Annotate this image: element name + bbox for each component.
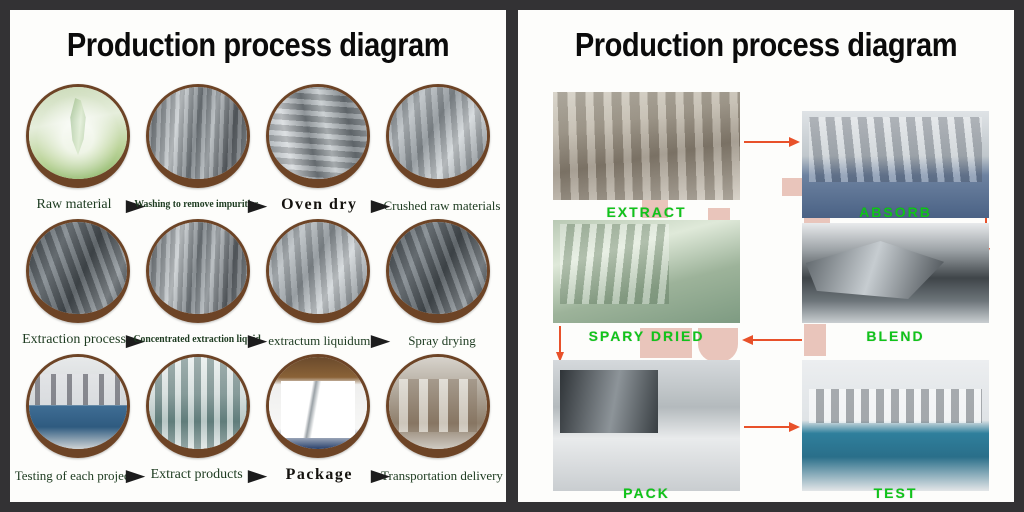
arrow-right-icon: ▶ (248, 467, 268, 484)
step-label: Transportation delivery (381, 469, 503, 482)
arrow-right-icon: ▶ (371, 332, 391, 349)
testing-photo (29, 357, 127, 449)
step-label: Spray drying (408, 334, 476, 347)
step-label: Package (286, 467, 353, 483)
extract-photo (553, 92, 740, 200)
oven-dry-photo (269, 87, 367, 179)
stage-photo-spary-dried[interactable] (553, 220, 740, 323)
step-image-circle (26, 84, 130, 188)
step-label: Testing of each project (15, 469, 134, 482)
concentrated-photo (149, 222, 247, 314)
step-caption-row-2: Extraction process ▶ Concentrated extrac… (10, 326, 506, 354)
stage-label-pack: PACK (553, 485, 740, 501)
arrow-line-blend-spary (750, 339, 802, 341)
stage-label-blend: BLEND (802, 328, 989, 344)
step-image-circle (146, 84, 250, 188)
arrow-right-icon: ▶ (371, 467, 391, 484)
step-cell[interactable] (144, 219, 252, 323)
step-cell[interactable] (264, 354, 372, 458)
stage-photo-test[interactable] (802, 360, 989, 491)
step-caption-row-1: Raw material ▶ Washing to remove impurit… (10, 191, 506, 219)
step-image-circle (146, 219, 250, 323)
step-label: Extraction process (22, 333, 126, 347)
left-panel: Production process diagram Raw material (10, 10, 506, 502)
step-caption-row-3: Testing of each project ▶ Extract produc… (10, 461, 506, 489)
step-cell[interactable] (24, 354, 132, 458)
step-row-3 (10, 354, 506, 458)
step-label: Extract products (151, 468, 243, 482)
right-panel-title: Production process diagram (548, 10, 984, 64)
step-label: Crushed raw materials (383, 199, 500, 212)
step-image-circle (146, 354, 250, 458)
step-image-circle (266, 84, 370, 188)
step-cell[interactable] (384, 354, 492, 458)
arrow-right-icon: ▶ (371, 197, 391, 214)
blend-photo (802, 223, 989, 323)
step-image-circle (26, 354, 130, 458)
step-label: Raw material (36, 198, 111, 212)
step-cell[interactable] (24, 219, 132, 323)
arrow-right-icon: ▶ (248, 197, 268, 214)
extractum-photo (269, 222, 367, 314)
stage-photo-grid: EXTRACT ABSORB SPARY DRIED BLEND (518, 78, 1014, 498)
package-photo (269, 357, 367, 449)
step-image-circle (26, 219, 130, 323)
test-photo (802, 360, 989, 491)
step-row-1 (10, 84, 506, 188)
arrow-line-pack-test (744, 426, 790, 428)
right-panel: Production process diagram EXTRACT ABSOR… (518, 10, 1014, 502)
circle-step-grid: Raw material ▶ Washing to remove impurit… (10, 84, 506, 489)
washing-photo (149, 87, 247, 179)
spary-dried-photo (553, 220, 740, 323)
arrow-head-right-icon (789, 137, 800, 147)
stage-photo-pack[interactable] (553, 360, 740, 491)
step-image-circle (266, 354, 370, 458)
step-row-2 (10, 219, 506, 323)
stage-photo-absorb[interactable] (802, 111, 989, 218)
screenshot-root: Production process diagram Raw material (0, 0, 1024, 512)
extraction-photo (29, 222, 127, 314)
stage-label-spary-dried: SPARY DRIED (553, 328, 740, 344)
raw-material-photo (29, 87, 127, 179)
step-image-circle (386, 84, 490, 188)
stage-label-test: TEST (802, 485, 989, 501)
step-image-circle (386, 354, 490, 458)
pack-photo (553, 360, 740, 491)
step-label: Oven dry (281, 197, 357, 213)
step-cell[interactable] (24, 84, 132, 188)
step-label: extractum liquidum (268, 334, 370, 347)
stage-label-absorb: ABSORB (802, 204, 989, 220)
step-cell[interactable] (264, 219, 372, 323)
crushed-photo (389, 87, 487, 179)
stage-photo-extract[interactable] (553, 92, 740, 200)
step-image-circle (266, 219, 370, 323)
arrow-line-spary-pack (559, 326, 561, 354)
arrow-head-left-icon (742, 335, 753, 345)
step-cell[interactable] (144, 354, 252, 458)
arrow-line-extract-absorb (744, 141, 790, 143)
stage-photo-blend[interactable] (802, 223, 989, 323)
step-cell[interactable] (144, 84, 252, 188)
step-cell[interactable] (264, 84, 372, 188)
spray-drying-photo (389, 222, 487, 314)
stage-label-extract: EXTRACT (553, 204, 740, 220)
extract-products-photo (149, 357, 247, 449)
arrow-right-icon: ▶ (126, 467, 146, 484)
arrow-right-icon: ▶ (248, 332, 268, 349)
step-label: Concentrated extraction liquid (133, 335, 260, 346)
left-panel-title: Production process diagram (40, 10, 476, 64)
absorb-photo (802, 111, 989, 218)
transportation-photo (389, 357, 487, 449)
step-label: Washing to remove impurities (135, 200, 259, 211)
step-cell[interactable] (384, 219, 492, 323)
step-cell[interactable] (384, 84, 492, 188)
arrow-head-right-icon (789, 422, 800, 432)
step-image-circle (386, 219, 490, 323)
